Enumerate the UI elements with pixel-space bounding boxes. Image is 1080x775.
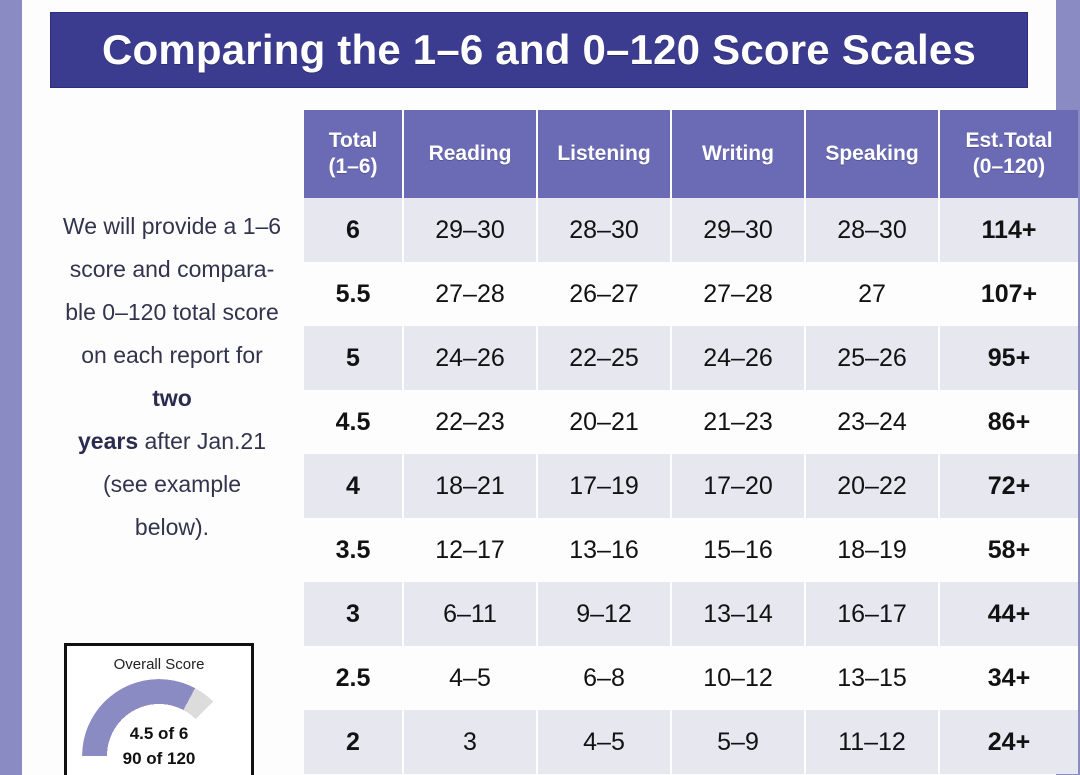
title-banner: Comparing the 1–6 and 0–120 Score Scales xyxy=(50,12,1028,88)
overall-score-label: Overall Score xyxy=(67,656,251,673)
cell-writing: 24–26 xyxy=(672,326,804,390)
intro-line-3: ble 0–120 total score xyxy=(65,299,279,325)
table-row: 418–2117–1917–2020–2272+ xyxy=(304,454,1078,518)
table-row: 5.527–2826–2727–2827107+ xyxy=(304,262,1078,326)
table-row: 36–119–1213–1416–1744+ xyxy=(304,582,1078,646)
intro-line-7: below). xyxy=(135,514,209,540)
cell-est-total: 72+ xyxy=(940,454,1078,518)
cell-speaking: 11–12 xyxy=(806,710,938,774)
cell-listening: 20–21 xyxy=(538,390,670,454)
cell-writing: 29–30 xyxy=(672,198,804,262)
cell-total: 5 xyxy=(304,326,402,390)
left-purple-band xyxy=(0,0,22,775)
column-header-listening: Listening xyxy=(538,110,670,198)
cell-total: 3 xyxy=(304,582,402,646)
page-title: Comparing the 1–6 and 0–120 Score Scales xyxy=(102,26,976,74)
cell-writing: 10–12 xyxy=(672,646,804,710)
column-header-total-top: Total xyxy=(306,128,400,154)
column-header-total: Total (1–6) xyxy=(304,110,402,198)
cell-total: 2 xyxy=(304,710,402,774)
intro-line-2: score and compara- xyxy=(70,256,275,282)
gauge-value-scale: 4.5 of 6 xyxy=(74,721,244,746)
cell-writing: 5–9 xyxy=(672,710,804,774)
gauge-value-labels: 4.5 of 6 90 of 120 xyxy=(74,721,244,771)
column-header-total-range: (1–6) xyxy=(306,154,400,180)
cell-total: 2.5 xyxy=(304,646,402,710)
cell-reading: 27–28 xyxy=(404,262,536,326)
cell-listening: 22–25 xyxy=(538,326,670,390)
column-header-est-total: Est.Total (0–120) xyxy=(940,110,1078,198)
cell-reading: 24–26 xyxy=(404,326,536,390)
overall-score-card: Overall Score 4.5 of 6 90 of 120 xyxy=(64,643,254,775)
cell-listening: 28–30 xyxy=(538,198,670,262)
column-header-reading-top: Reading xyxy=(406,141,534,167)
gauge-value-total: 90 of 120 xyxy=(74,746,244,771)
cell-writing: 27–28 xyxy=(672,262,804,326)
cell-total: 5.5 xyxy=(304,262,402,326)
cell-speaking: 20–22 xyxy=(806,454,938,518)
column-header-reading: Reading xyxy=(404,110,536,198)
score-comparison-table: Total (1–6) Reading Listening Writing Sp… xyxy=(302,110,1080,774)
table-body: 629–3028–3029–3028–30114+5.527–2826–2727… xyxy=(304,198,1078,774)
cell-speaking: 18–19 xyxy=(806,518,938,582)
cell-est-total: 86+ xyxy=(940,390,1078,454)
cell-listening: 17–19 xyxy=(538,454,670,518)
intro-line-1: We will provide a 1–6 xyxy=(63,213,281,239)
table-row: 2.54–56–810–1213–1534+ xyxy=(304,646,1078,710)
table-header-row: Total (1–6) Reading Listening Writing Sp… xyxy=(304,110,1078,198)
cell-reading: 18–21 xyxy=(404,454,536,518)
cell-est-total: 95+ xyxy=(940,326,1078,390)
cell-reading: 22–23 xyxy=(404,390,536,454)
cell-speaking: 13–15 xyxy=(806,646,938,710)
cell-est-total: 44+ xyxy=(940,582,1078,646)
intro-bold-years: years xyxy=(78,428,138,454)
intro-line-6: (see example xyxy=(103,471,241,497)
overall-score-gauge: 4.5 of 6 90 of 120 xyxy=(74,679,244,775)
cell-reading: 29–30 xyxy=(404,198,536,262)
cell-speaking: 28–30 xyxy=(806,198,938,262)
intro-paragraph: We will provide a 1–6 score and compara-… xyxy=(36,205,308,549)
page-content: Comparing the 1–6 and 0–120 Score Scales… xyxy=(22,0,1056,775)
column-header-est-total-top: Est.Total xyxy=(942,128,1076,154)
column-header-writing-top: Writing xyxy=(674,141,802,167)
cell-listening: 4–5 xyxy=(538,710,670,774)
cell-writing: 15–16 xyxy=(672,518,804,582)
cell-total: 6 xyxy=(304,198,402,262)
intro-line-5: after Jan.21 xyxy=(138,428,266,454)
column-header-speaking-top: Speaking xyxy=(808,141,936,167)
cell-writing: 13–14 xyxy=(672,582,804,646)
cell-reading: 12–17 xyxy=(404,518,536,582)
column-header-est-total-range: (0–120) xyxy=(942,154,1076,180)
cell-total: 3.5 xyxy=(304,518,402,582)
intro-bold-two: two xyxy=(152,385,192,411)
table-row: 524–2622–2524–2625–2695+ xyxy=(304,326,1078,390)
column-header-listening-top: Listening xyxy=(540,141,668,167)
column-header-speaking: Speaking xyxy=(806,110,938,198)
intro-line-4: on each report for xyxy=(81,342,263,368)
table-row: 3.512–1713–1615–1618–1958+ xyxy=(304,518,1078,582)
cell-reading: 6–11 xyxy=(404,582,536,646)
cell-reading: 4–5 xyxy=(404,646,536,710)
cell-speaking: 25–26 xyxy=(806,326,938,390)
cell-listening: 13–16 xyxy=(538,518,670,582)
cell-writing: 17–20 xyxy=(672,454,804,518)
column-header-writing: Writing xyxy=(672,110,804,198)
cell-total: 4.5 xyxy=(304,390,402,454)
cell-est-total: 34+ xyxy=(940,646,1078,710)
table-row: 629–3028–3029–3028–30114+ xyxy=(304,198,1078,262)
cell-est-total: 114+ xyxy=(940,198,1078,262)
cell-listening: 26–27 xyxy=(538,262,670,326)
cell-est-total: 107+ xyxy=(940,262,1078,326)
cell-est-total: 58+ xyxy=(940,518,1078,582)
cell-listening: 6–8 xyxy=(538,646,670,710)
cell-speaking: 16–17 xyxy=(806,582,938,646)
cell-speaking: 23–24 xyxy=(806,390,938,454)
cell-est-total: 24+ xyxy=(940,710,1078,774)
cell-reading: 3 xyxy=(404,710,536,774)
cell-writing: 21–23 xyxy=(672,390,804,454)
cell-total: 4 xyxy=(304,454,402,518)
cell-listening: 9–12 xyxy=(538,582,670,646)
table-row: 234–55–911–1224+ xyxy=(304,710,1078,774)
table-row: 4.522–2320–2121–2323–2486+ xyxy=(304,390,1078,454)
cell-speaking: 27 xyxy=(806,262,938,326)
